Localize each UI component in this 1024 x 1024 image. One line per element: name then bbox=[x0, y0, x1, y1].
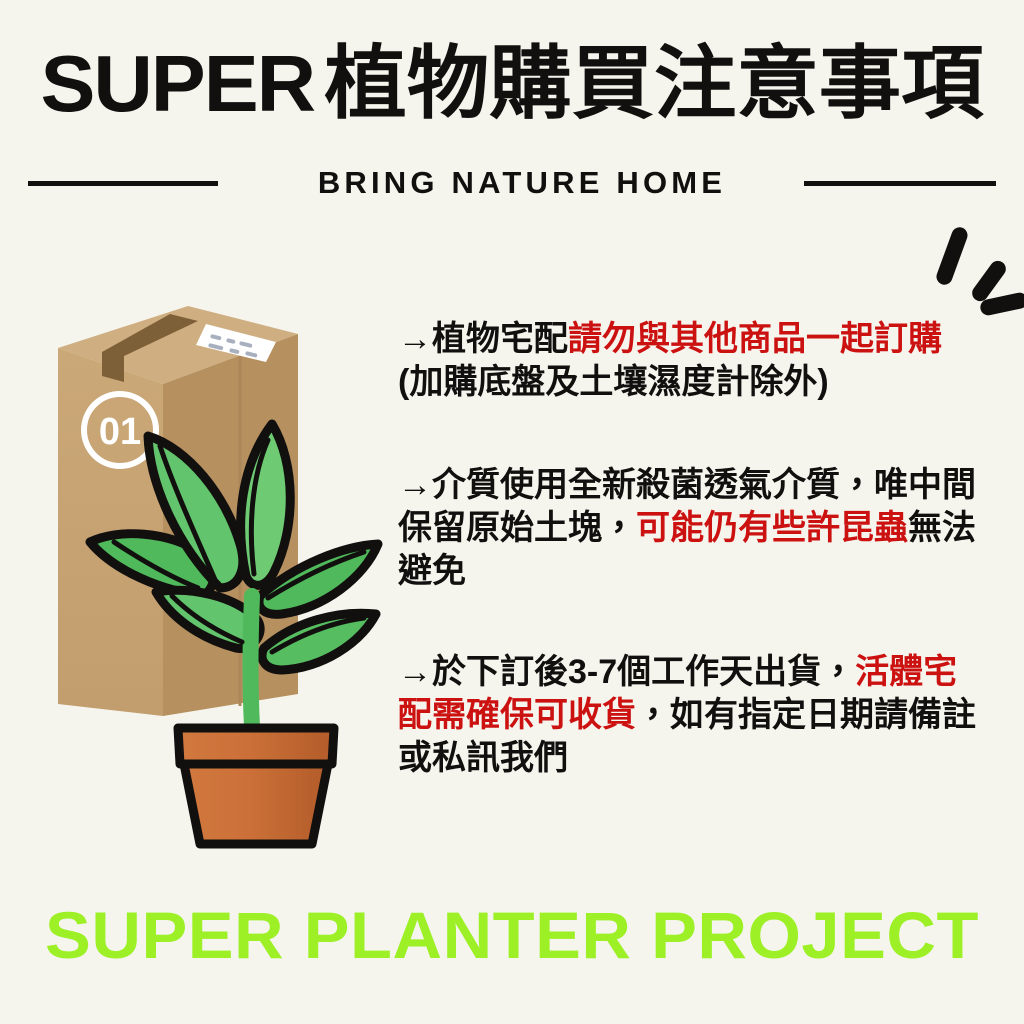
note-medium: →介質使用全新殺菌透氣介質，唯中間保留原始土塊，可能仍有些許昆蟲無法避免 bbox=[398, 464, 978, 593]
note-segment: →植物宅配 bbox=[398, 320, 568, 358]
brand-footer: SUPER PLANTER PROJECT bbox=[0, 896, 1024, 974]
page-title: SUPER植物購買注意事項 bbox=[0, 36, 1024, 132]
subtitle-row: BRING NATURE HOME bbox=[0, 160, 1024, 206]
notes-list: →植物宅配請勿與其他商品一起訂購(加購底盤及土壤濕度計除外) →介質使用全新殺菌… bbox=[398, 318, 978, 780]
subtitle: BRING NATURE HOME bbox=[318, 165, 726, 201]
note-segment-highlight: 請勿與其他商品一起訂購 bbox=[568, 320, 942, 358]
box-and-plant-illustration: 01 bbox=[28, 296, 388, 856]
note-shipping: →於下訂後3-7個工作天出貨，活體宅配需確保可收貨，如有指定日期請備註或私訊我們 bbox=[398, 651, 978, 780]
sparkle-dash-1 bbox=[934, 225, 970, 287]
note-segment-highlight: 可能仍有些許昆蟲 bbox=[636, 509, 908, 547]
sparkle-dashes-icon bbox=[918, 222, 1022, 322]
subtitle-rule-left bbox=[28, 181, 218, 186]
svg-text:01: 01 bbox=[99, 411, 141, 453]
note-segment: →於下訂後3-7個工作天出貨， bbox=[398, 653, 855, 691]
page-title-latin: SUPER bbox=[40, 39, 314, 128]
page-title-han: 植物購買注意事項 bbox=[324, 39, 983, 128]
poster-canvas: SUPER植物購買注意事項 BRING NATURE HOME bbox=[0, 0, 1024, 1024]
note-segment: (加購底盤及土壤濕度計除外) bbox=[398, 363, 829, 401]
subtitle-rule-right bbox=[804, 181, 996, 186]
note-delivery: →植物宅配請勿與其他商品一起訂購(加購底盤及土壤濕度計除外) bbox=[398, 318, 978, 404]
